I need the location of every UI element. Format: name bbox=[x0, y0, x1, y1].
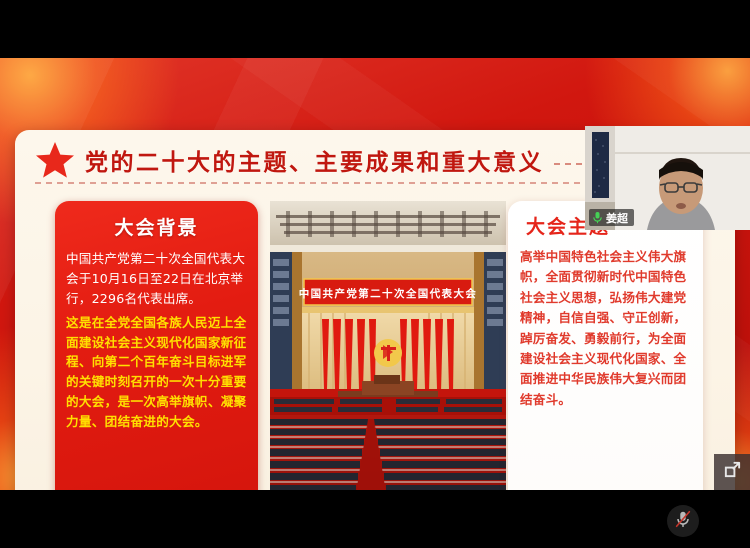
presentation-stage: 党的二十大的主题、主要成果和重大意义 大会背景 中国共产党第二十次全国代表大会于… bbox=[0, 58, 750, 490]
left-panel-body: 中国共产党第二十次全国代表大会于10月16日至22日在北京举行，2296名代表出… bbox=[55, 249, 258, 432]
bottom-toolbar bbox=[0, 490, 750, 548]
left-panel-heading: 大会背景 bbox=[55, 213, 258, 240]
left-panel-paragraph-yellow: 这是在全党全国各族人民迈上全面建设社会主义现代化国家新征程、向第二个百年奋斗目标… bbox=[66, 313, 247, 432]
red-star-icon bbox=[35, 141, 75, 179]
expand-button[interactable] bbox=[714, 454, 750, 490]
microphone-on-icon bbox=[592, 211, 603, 224]
congress-hall-photo: 中国共产党第二十次全国代表大会 bbox=[270, 201, 506, 490]
participant-video-thumbnail[interactable]: 姜超 bbox=[585, 126, 750, 230]
right-panel-paragraph: 高举中国特色社会主义伟大旗帜，全面贯彻新时代中国特色社会主义思想，弘扬伟大建党精… bbox=[508, 247, 703, 410]
microphone-muted-icon bbox=[673, 509, 693, 534]
svg-text:中国共产党第二十次全国代表大会: 中国共产党第二十次全国代表大会 bbox=[299, 287, 478, 300]
right-info-panel: 大会主题 高举中国特色社会主义伟大旗帜，全面贯彻新时代中国特色社会主义思想，弘扬… bbox=[508, 201, 703, 490]
participant-name: 姜超 bbox=[606, 210, 628, 226]
left-panel-paragraph-white: 中国共产党第二十次全国代表大会于10月16日至22日在北京举行，2296名代表出… bbox=[66, 249, 247, 309]
page-title: 党的二十大的主题、主要成果和重大意义 bbox=[85, 143, 544, 177]
screen-share-window: 党的二十大的主题、主要成果和重大意义 大会背景 中国共产党第二十次全国代表大会于… bbox=[0, 0, 750, 548]
expand-arrow-icon bbox=[723, 460, 742, 484]
left-info-panel: 大会背景 中国共产党第二十次全国代表大会于10月16日至22日在北京举行，229… bbox=[55, 201, 258, 490]
participant-name-badge: 姜超 bbox=[589, 209, 634, 226]
mute-toggle-button[interactable] bbox=[667, 505, 699, 537]
